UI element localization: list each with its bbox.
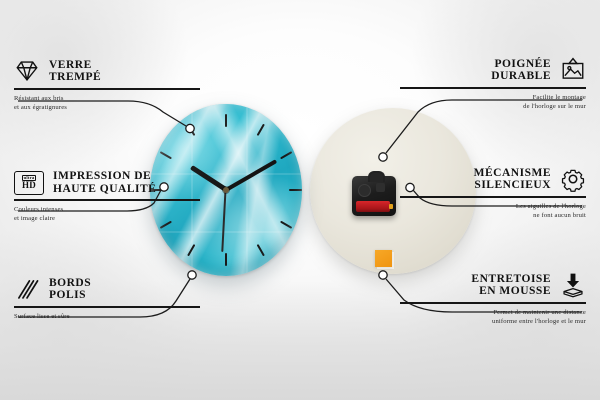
hanger-loop-icon: [368, 171, 385, 182]
feature-header: MÉCANISMESILENCIEUX: [400, 166, 586, 192]
movement-switch: [376, 183, 385, 192]
infographic-canvas: VERRETREMPÉ Résistant aux briset aux égr…: [0, 0, 600, 400]
ultra-hd-icon: ultra HD: [14, 171, 44, 195]
feature-rule: [400, 302, 586, 304]
feature-mecanisme-silencieux[interactable]: MÉCANISMESILENCIEUX Les aiguilles de l'h…: [400, 166, 586, 220]
feature-header: BORDSPOLIS: [14, 276, 200, 302]
battery: [356, 201, 390, 212]
feature-description: Couleurs intenseset image claire: [14, 205, 200, 223]
feature-description: Surface lisse et sûre: [14, 312, 200, 321]
feature-header: POIGNÉEDURABLE: [400, 57, 586, 83]
feature-title: BORDSPOLIS: [49, 277, 91, 302]
clock-movement-box: [352, 176, 396, 216]
feature-rule: [400, 87, 586, 89]
feature-title: VERRETREMPÉ: [49, 59, 101, 84]
feature-rule: [400, 196, 586, 198]
feature-description: Les aiguilles de l'horlogene font aucun …: [400, 202, 586, 220]
picture-hanger-icon: [560, 57, 586, 83]
gear-icon: [560, 166, 586, 192]
feature-header: ENTRETOISEEN MOUSSE: [400, 272, 586, 298]
feature-title: MÉCANISMESILENCIEUX: [474, 167, 551, 192]
feature-entretoise-en-mousse[interactable]: ENTRETOISEEN MOUSSE Permet de maintenir …: [400, 272, 586, 326]
feature-header: ultra HD IMPRESSION DEHAUTE QUALITÉ: [14, 170, 200, 195]
polished-edges-icon: [14, 276, 40, 302]
feature-rule: [14, 199, 200, 201]
movement-dial: [358, 184, 371, 197]
feature-description: Permet de maintenir une distanceuniforme…: [400, 308, 586, 326]
feature-description: Facilite le montagede l'horloge sur le m…: [400, 93, 586, 111]
feature-poignee-durable[interactable]: POIGNÉEDURABLE Facilite le montagede l'h…: [400, 57, 586, 111]
feature-verre-trempe[interactable]: VERRETREMPÉ Résistant aux briset aux égr…: [14, 58, 200, 112]
feature-title: IMPRESSION DEHAUTE QUALITÉ: [53, 170, 156, 195]
feature-header: VERRETREMPÉ: [14, 58, 200, 84]
foam-spacer-sample: [375, 250, 392, 267]
foam-spacer-icon: [560, 272, 586, 298]
feature-impression-haute-qualite[interactable]: ultra HD IMPRESSION DEHAUTE QUALITÉ Coul…: [14, 170, 200, 223]
feature-rule: [14, 306, 200, 308]
diamond-icon: [14, 58, 40, 84]
feature-rule: [14, 88, 200, 90]
feature-description: Résistant aux briset aux égratignures: [14, 94, 200, 112]
feature-title: ENTRETOISEEN MOUSSE: [471, 273, 551, 298]
feature-title: POIGNÉEDURABLE: [491, 58, 551, 83]
feature-bords-polis[interactable]: BORDSPOLIS Surface lisse et sûre: [14, 276, 200, 321]
